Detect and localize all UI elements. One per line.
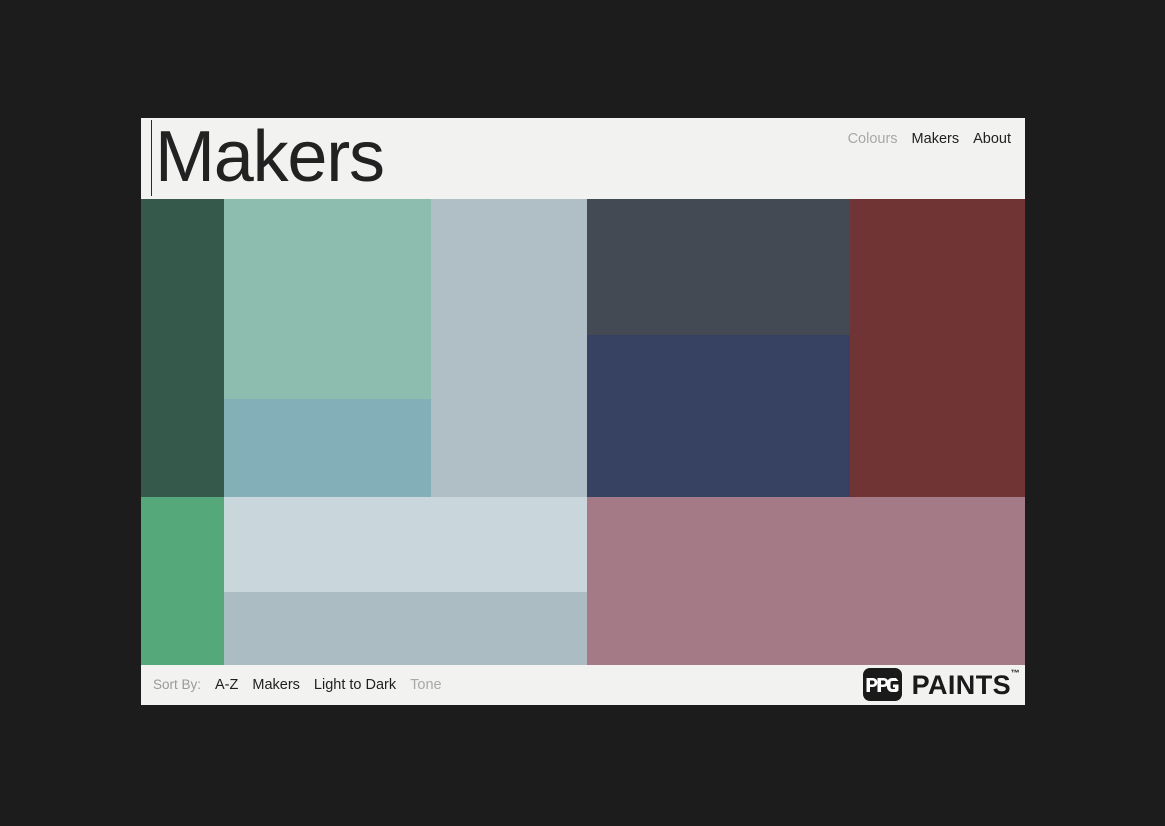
swatch-row xyxy=(141,497,1025,665)
sort-by-label: Sort By: xyxy=(153,677,201,692)
main-nav: Colours Makers About xyxy=(848,118,1025,148)
swatch-column xyxy=(431,199,587,497)
colour-swatch[interactable] xyxy=(850,199,1025,497)
brand-rule xyxy=(151,120,152,196)
colour-swatch[interactable] xyxy=(587,335,850,497)
ppg-wordmark-text: PAINTS xyxy=(912,670,1011,700)
app-footer: Sort By: A-Z Makers Light to Dark Tone P… xyxy=(141,664,1025,705)
colour-swatch[interactable] xyxy=(587,199,850,335)
colour-swatch[interactable] xyxy=(141,199,224,497)
ppg-badge-icon xyxy=(863,668,902,701)
colour-swatch[interactable] xyxy=(224,497,587,592)
nav-item-makers[interactable]: Makers xyxy=(912,130,960,148)
colour-swatch[interactable] xyxy=(224,199,431,399)
sort-option-tone[interactable]: Tone xyxy=(410,677,441,693)
sort-option-makers[interactable]: Makers xyxy=(252,677,300,693)
colour-swatch-grid xyxy=(141,199,1025,664)
nav-item-about[interactable]: About xyxy=(973,130,1011,148)
colour-swatch[interactable] xyxy=(224,399,431,497)
app-header: Makers Colours Makers About xyxy=(141,118,1025,199)
app-card: Makers Colours Makers About xyxy=(141,118,1025,705)
colour-swatch[interactable] xyxy=(587,497,1025,665)
swatch-column xyxy=(141,199,224,497)
swatch-column xyxy=(141,497,224,665)
ppg-paints-logo: PAINTS ™ xyxy=(863,668,1011,701)
colour-swatch[interactable] xyxy=(224,592,587,665)
colour-swatch[interactable] xyxy=(141,497,224,665)
sort-option-light-to-dark[interactable]: Light to Dark xyxy=(314,677,396,693)
brand: Makers xyxy=(141,118,384,196)
swatch-column xyxy=(587,497,1025,665)
swatch-column xyxy=(224,497,587,665)
swatch-column xyxy=(850,199,1025,497)
colour-swatch[interactable] xyxy=(431,199,587,497)
swatch-column xyxy=(587,199,850,497)
sort-bar: Sort By: A-Z Makers Light to Dark Tone xyxy=(153,677,442,693)
ppg-wordmark: PAINTS ™ xyxy=(912,671,1011,699)
trademark-icon: ™ xyxy=(1011,669,1020,678)
page-title: Makers xyxy=(155,118,384,196)
swatch-column xyxy=(224,199,431,497)
swatch-row xyxy=(141,199,1025,497)
nav-item-colours[interactable]: Colours xyxy=(848,130,898,148)
sort-option-a-z[interactable]: A-Z xyxy=(215,677,238,693)
